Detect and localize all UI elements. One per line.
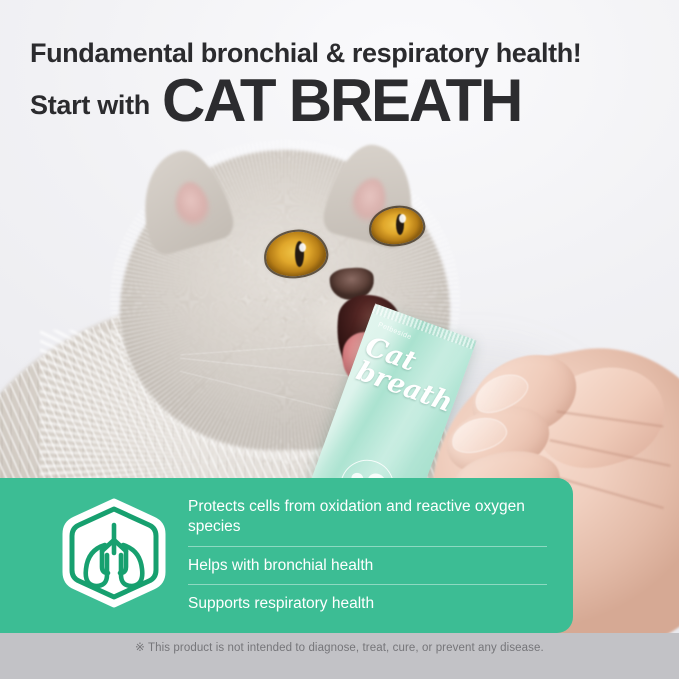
lungs-hexagon-icon <box>58 497 170 614</box>
headline-tagline: Fundamental bronchial & respiratory heal… <box>30 38 660 69</box>
disclaimer-footer: ※ This product is not intended to diagno… <box>0 633 679 679</box>
cat-eye-glint-left <box>299 243 306 252</box>
benefit-item: Protects cells from oxidation and reacti… <box>188 488 547 546</box>
product-infographic: Petbeside Cat breath Fundamental bronchi… <box>0 0 679 679</box>
benefit-item: Helps with bronchial health <box>188 546 547 585</box>
disclaimer-text: ※ This product is not intended to diagno… <box>135 640 544 654</box>
benefit-item: Supports respiratory health <box>188 584 547 623</box>
benefits-panel: Protects cells from oxidation and reacti… <box>0 478 573 633</box>
benefits-list: Protects cells from oxidation and reacti… <box>188 488 547 623</box>
cat-eye-glint-right <box>399 214 406 223</box>
headline-product-name: CAT BREATH <box>162 73 521 128</box>
headline-block: Fundamental bronchial & respiratory heal… <box>30 38 660 128</box>
headline-main-row: Start with CAT BREATH <box>30 73 660 128</box>
headline-start-with: Start with <box>30 90 150 128</box>
